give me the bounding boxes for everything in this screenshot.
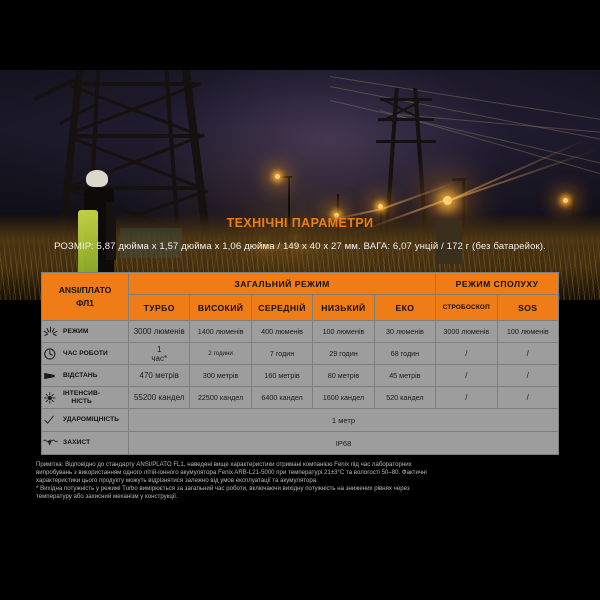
cell-runtime-strobe: / xyxy=(436,343,497,365)
cell-intensity-turbo: 55200 кандел xyxy=(129,387,190,409)
row-label-intensity: ІНТЕНСИВ- НІСТЬ xyxy=(42,387,129,409)
cell-runtime-medium: 7 годин xyxy=(251,343,312,365)
specifications-table: ANSI/ПЛАТО ФЛ1 ЗАГАЛЬНИЙ РЕЖИМ РЕЖИМ СПО… xyxy=(41,272,559,455)
cell-distance-eco: 45 метрів xyxy=(374,365,435,387)
mode-header-strobe: СТРОБОСКОП xyxy=(436,295,497,321)
cell-output-turbo: 3000 люменів xyxy=(129,321,190,343)
cell-runtime-eco: 68 годин xyxy=(374,343,435,365)
row-label-waterproof: ЗАХИСТ xyxy=(42,432,129,455)
cell-waterproof-value: IP68 xyxy=(129,432,559,455)
footnote-line-5: температуру або захисний механізм у конс… xyxy=(36,493,568,501)
row-label-output-text: РЕЖИМ xyxy=(63,328,89,336)
cell-distance-high: 300 метрів xyxy=(190,365,251,387)
ansi-label-line2: ФЛ1 xyxy=(42,297,128,310)
cell-runtime-low: 29 годин xyxy=(313,343,374,365)
cell-runtime-high: 2 години xyxy=(190,343,251,365)
mode-header-eco: ЕКО xyxy=(374,295,435,321)
sun-burst-icon xyxy=(42,325,59,339)
cell-intensity-high: 22500 кандел xyxy=(190,387,251,409)
intensity-icon xyxy=(42,391,59,405)
table-row-runtime: ЧАС РОБОТИ 1 час* 2 години 7 годин 29 го… xyxy=(42,343,559,365)
row-label-distance-text: ВІДСТАНЬ xyxy=(63,372,98,380)
table-row-waterproof: ЗАХИСТ IP68 xyxy=(42,432,559,455)
row-label-output: РЕЖИМ xyxy=(42,321,129,343)
footnote-line-2: випробувань з використанням одного літій… xyxy=(36,469,568,477)
cell-runtime-sos: / xyxy=(497,343,558,365)
cell-intensity-medium: 6400 кандел xyxy=(251,387,312,409)
cell-output-low: 100 люменів xyxy=(313,321,374,343)
row-label-impact: УДАРОМІЦНІСТЬ xyxy=(42,409,129,432)
table-row-output: РЕЖИМ 3000 люменів 1400 люменів 400 люме… xyxy=(42,321,559,343)
cell-output-strobe: 3000 люменів xyxy=(436,321,497,343)
impact-check-icon xyxy=(42,413,59,427)
cell-distance-turbo: 470 метрів xyxy=(129,365,190,387)
clock-icon xyxy=(42,347,59,361)
cell-intensity-eco: 520 кандел xyxy=(374,387,435,409)
cell-impact-value: 1 метр xyxy=(129,409,559,432)
row-label-runtime-text: ЧАС РОБОТИ xyxy=(63,350,108,358)
table-row-intensity: ІНТЕНСИВ- НІСТЬ 55200 кандел 22500 канде… xyxy=(42,387,559,409)
row-label-runtime: ЧАС РОБОТИ xyxy=(42,343,129,365)
cell-intensity-low: 1600 кандел xyxy=(313,387,374,409)
hero-photo-night-power-lines xyxy=(0,70,600,300)
row-label-intensity-text: ІНТЕНСИВ- НІСТЬ xyxy=(63,390,100,406)
cell-output-sos: 100 люменів xyxy=(497,321,558,343)
cell-intensity-strobe: / xyxy=(436,387,497,409)
group-header-general-mode: ЗАГАЛЬНИЙ РЕЖИМ xyxy=(129,273,436,295)
ansi-label-line1: ANSI/ПЛАТО xyxy=(42,284,128,297)
cell-output-eco: 30 люменів xyxy=(374,321,435,343)
row-label-impact-text: УДАРОМІЦНІСТЬ xyxy=(63,416,119,424)
mode-header-low: НИЗЬКИЙ xyxy=(313,295,374,321)
ansi-plato-corner-label: ANSI/ПЛАТО ФЛ1 xyxy=(42,273,129,321)
cell-runtime-turbo-value: 1 час* xyxy=(129,345,189,363)
product-spec-page: ТЕХНІЧНІ ПАРАМЕТРИ РОЗМІР: 5,87 дюйма x … xyxy=(0,0,600,600)
group-header-alarm-mode: РЕЖИМ СПОЛУХУ xyxy=(436,273,559,295)
cell-distance-low: 80 метрів xyxy=(313,365,374,387)
row-label-distance: ВІДСТАНЬ xyxy=(42,365,129,387)
cell-runtime-turbo: 1 час* xyxy=(129,343,190,365)
mode-header-turbo: ТУРБО xyxy=(129,295,190,321)
beam-distance-icon xyxy=(42,369,59,383)
worker-helmet xyxy=(86,170,108,187)
footnote-line-1: Примітка: Відповідно до стандарту ANSI/P… xyxy=(36,461,568,469)
cell-distance-strobe: / xyxy=(436,365,497,387)
row-label-waterproof-text: ЗАХИСТ xyxy=(63,439,90,447)
table-header-group-row: ANSI/ПЛАТО ФЛ1 ЗАГАЛЬНИЙ РЕЖИМ РЕЖИМ СПО… xyxy=(42,273,559,295)
mode-header-medium: СЕРЕДНІЙ xyxy=(251,295,312,321)
footnote-line-3: характеристики цього продукту можуть від… xyxy=(36,477,568,485)
dimensions-weight-line: РОЗМІР: 5,87 дюйма x 1,57 дюйма x 1,06 д… xyxy=(0,241,600,252)
table-row-impact: УДАРОМІЦНІСТЬ 1 метр xyxy=(42,409,559,432)
footnote-line-4: * Вихідна потужність у режимі Turbo вимі… xyxy=(36,485,568,493)
table-row-distance: ВІДСТАНЬ 470 метрів 300 метрів 160 метрі… xyxy=(42,365,559,387)
mode-header-high: ВИСОКИЙ xyxy=(190,295,251,321)
mode-header-sos: SOS xyxy=(497,295,558,321)
water-drop-icon xyxy=(42,436,59,450)
footnote-block: Примітка: Відповідно до стандарту ANSI/P… xyxy=(36,461,568,501)
page-title: ТЕХНІЧНІ ПАРАМЕТРИ xyxy=(0,216,600,230)
cell-distance-medium: 160 метрів xyxy=(251,365,312,387)
cell-output-medium: 400 люменів xyxy=(251,321,312,343)
top-letterbox xyxy=(0,0,600,70)
cell-output-high: 1400 люменів xyxy=(190,321,251,343)
cell-distance-sos: / xyxy=(497,365,558,387)
cell-intensity-sos: / xyxy=(497,387,558,409)
